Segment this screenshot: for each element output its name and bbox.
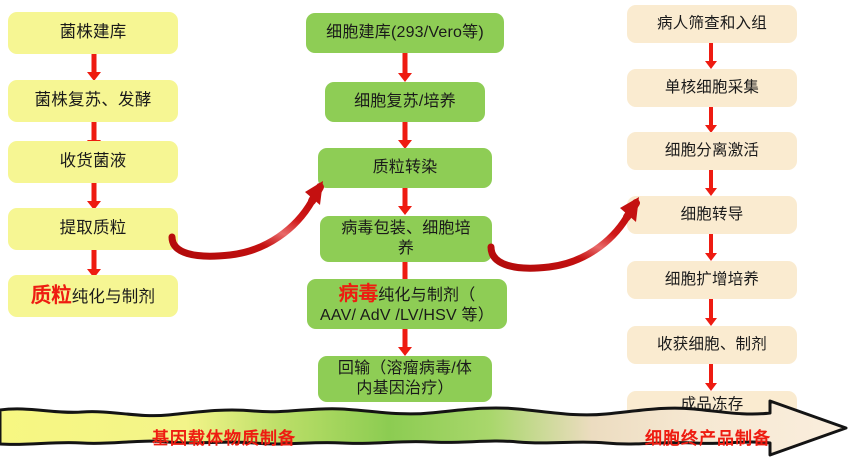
node-extract-plasmid[interactable]: 提取质粒 (8, 208, 178, 250)
connector-3-1-to-3-2 (704, 43, 718, 69)
node-label: 质粒转染 (324, 159, 486, 178)
banner-label-left: 基因载体物质制备 (152, 424, 296, 449)
connector-3-2-to-3-3 (704, 107, 718, 133)
arrow-plasmid-to-transfection (168, 175, 333, 270)
node-cell-bank[interactable]: 细胞建库(293/Vero等) (306, 13, 504, 53)
node-label-line1: 病毒包装、细胞培 (341, 220, 471, 237)
node-reinfusion-oncolytic-gene-therapy[interactable]: 回输（溶瘤病毒/体内基因治疗） (318, 356, 492, 402)
node-label-line2: AAV/ AdV /LV/HSV 等） (320, 307, 494, 324)
node-label: 细胞建库(293/Vero等) (312, 24, 498, 43)
connector-2-3-to-2-4 (397, 188, 413, 215)
connector-1-1-to-1-2 (86, 54, 102, 81)
node-plasmid-purification[interactable]: 质粒纯化与制剂 (8, 275, 178, 317)
node-harvest-broth[interactable]: 收货菌液 (8, 141, 178, 183)
node-virus-packaging-cell-culture[interactable]: 病毒包装、细胞培养 (320, 216, 492, 262)
connector-1-3-to-1-4 (86, 183, 102, 210)
node-cell-isolation-activation[interactable]: 细胞分离激活 (627, 132, 797, 170)
connector-3-5-to-3-6 (704, 299, 718, 326)
node-strain-bank[interactable]: 菌株建库 (8, 12, 178, 54)
node-label: 单核细胞采集 (633, 79, 791, 97)
node-label: 细胞复苏/培养 (331, 93, 479, 112)
node-mononuclear-cell-collection[interactable]: 单核细胞采集 (627, 69, 797, 107)
flowchart-canvas: 菌株建库 菌株复苏、发酵 收货菌液 提取质粒 质粒纯化与制剂 细胞建库(2 (0, 0, 865, 458)
node-label-line1: 回输（溶瘤病毒/体 (338, 360, 472, 377)
connector-1-4-to-1-5 (86, 250, 102, 278)
node-label: 收获细胞、制剂 (633, 336, 791, 354)
node-harvest-cells-formulation[interactable]: 收获细胞、制剂 (627, 326, 797, 364)
node-label-highlight: 质粒 (31, 284, 72, 307)
node-plasmid-transfection[interactable]: 质粒转染 (318, 148, 492, 188)
node-label: 细胞转导 (633, 206, 791, 224)
node-strain-revival-fermentation[interactable]: 菌株复苏、发酵 (8, 80, 178, 122)
connector-2-2-to-2-3 (397, 122, 413, 149)
node-label: 细胞扩增培养 (633, 271, 791, 289)
node-label: 收货菌液 (14, 152, 172, 171)
node-virus-purification-formulation[interactable]: 病毒纯化与制剂（AAV/ AdV /LV/HSV 等） (307, 279, 507, 329)
banner-label-right: 细胞终产品制备 (645, 424, 771, 449)
node-label: 细胞分离激活 (633, 142, 791, 160)
node-label: 病人筛查和入组 (633, 15, 791, 33)
node-label-highlight: 病毒 (339, 283, 379, 305)
node-label: 菌株复苏、发酵 (14, 91, 172, 110)
node-patient-screening-enrollment[interactable]: 病人筛查和入组 (627, 5, 797, 43)
node-label-line2: 养 (398, 240, 414, 257)
connector-3-3-to-3-4 (704, 170, 718, 196)
node-label: 纯化与制剂 (72, 288, 156, 306)
node-label: 提取质粒 (14, 219, 172, 238)
node-cell-revival-culture[interactable]: 细胞复苏/培养 (325, 82, 485, 122)
arrow-virus-to-transduction (487, 195, 647, 285)
connector-3-6-to-3-7 (704, 364, 718, 391)
connector-2-1-to-2-2 (397, 53, 413, 82)
connector-3-4-to-3-5 (704, 234, 718, 261)
node-label-line2: 内基因治疗） (356, 380, 453, 397)
connector-2-5-to-2-6 (397, 329, 413, 356)
node-cell-expansion-culture[interactable]: 细胞扩增培养 (627, 261, 797, 299)
node-label: 菌株建库 (14, 23, 172, 42)
node-label: 纯化与制剂（ (378, 287, 475, 304)
node-cell-transduction[interactable]: 细胞转导 (627, 196, 797, 234)
